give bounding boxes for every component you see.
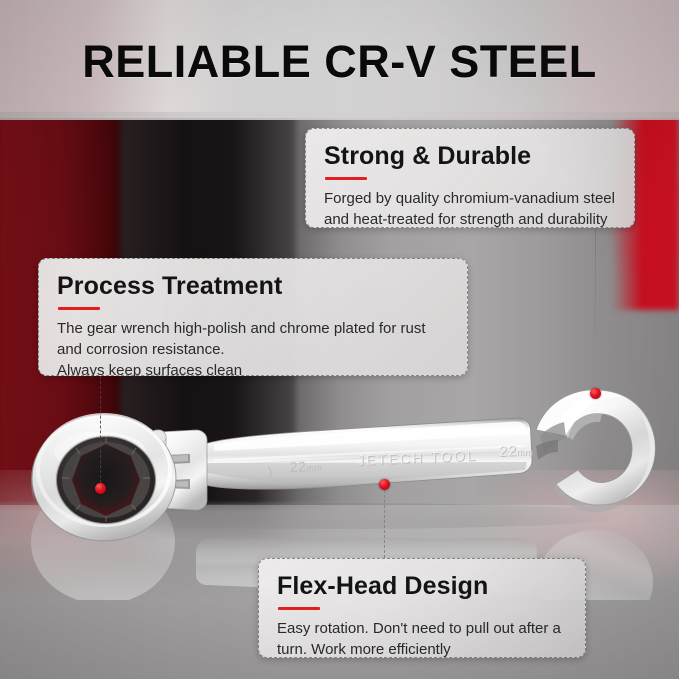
- callout-heading: Flex-Head Design: [277, 572, 569, 601]
- callout-accent-rule: [325, 177, 367, 180]
- product-feature-image: RELIABLE CR-V STEEL: [0, 0, 679, 679]
- callout-process-treatment: Process Treatment The gear wrench high-p…: [38, 258, 468, 376]
- callout-heading: Process Treatment: [57, 272, 451, 301]
- leader-line-process-treatment: [100, 376, 101, 488]
- callout-accent-rule: [58, 307, 100, 310]
- callout-accent-rule: [278, 607, 320, 610]
- leader-line-strong-durable: [595, 228, 596, 393]
- callout-body: The gear wrench high-polish and chrome p…: [57, 318, 451, 381]
- callout-heading: Strong & Durable: [324, 142, 618, 171]
- callout-strong-durable: Strong & Durable Forged by quality chrom…: [305, 128, 635, 228]
- leader-line-flex-head: [384, 490, 385, 558]
- callout-body: Easy rotation. Don't need to pull out af…: [277, 618, 569, 660]
- marker-dot-flex-head: [379, 479, 390, 490]
- callout-body: Forged by quality chromium-vanadium stee…: [324, 188, 618, 230]
- marker-dot-open-end: [590, 388, 601, 399]
- marker-dot-ratchet-head: [95, 483, 106, 494]
- engraving-mark: ): [267, 464, 272, 479]
- callout-flex-head-design: Flex-Head Design Easy rotation. Don't ne…: [258, 558, 586, 658]
